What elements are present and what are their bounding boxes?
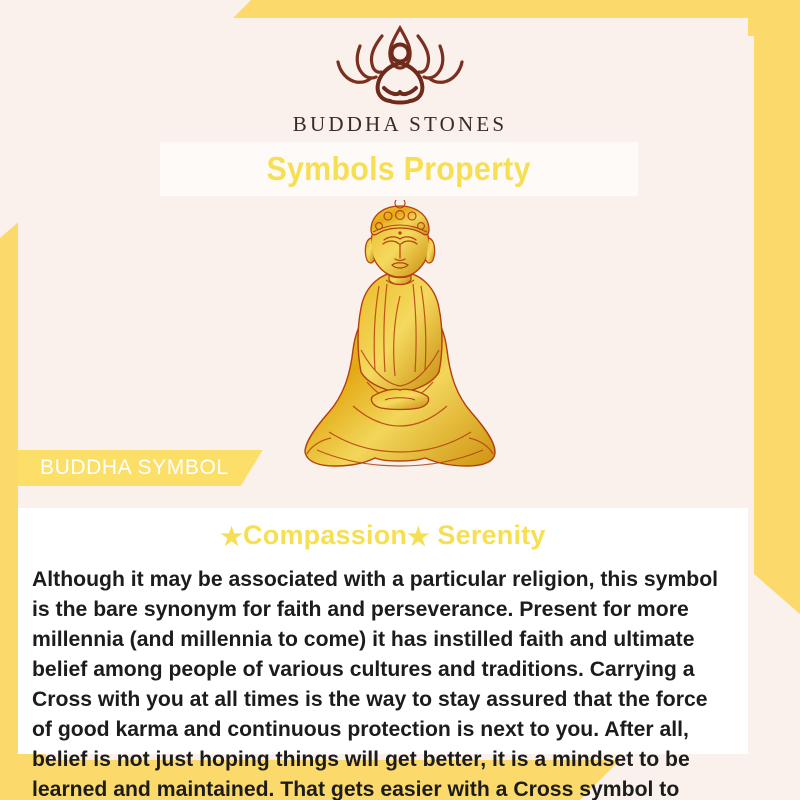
golden-seated-buddha-statue-icon — [295, 200, 505, 495]
brand-wordmark: BUDDHA STONES — [293, 112, 508, 137]
section-body-text: Although it may be associated with a par… — [32, 564, 723, 800]
star-icon-right: ★ — [407, 523, 430, 551]
page-title: Symbols Property — [267, 150, 531, 188]
lotus-meditation-figure-icon — [310, 22, 490, 108]
page-root: BUDDHA STONES Symbols Property — [0, 0, 800, 800]
section-subtitle: ★Compassion★ Serenity — [18, 520, 748, 552]
buddha-symbol-tag-label: BUDDHA SYMBOL — [40, 456, 229, 480]
subtitle-word-serenity: Serenity — [437, 520, 545, 550]
buddha-symbol-tag: BUDDHA SYMBOL — [18, 450, 263, 486]
subtitle-word-compassion: Compassion — [243, 520, 407, 550]
brand-logo: BUDDHA STONES — [0, 22, 800, 137]
title-banner: Symbols Property — [160, 142, 638, 196]
content-card: ★Compassion★ Serenity Although it may be… — [18, 508, 748, 754]
star-icon-left: ★ — [220, 523, 243, 551]
